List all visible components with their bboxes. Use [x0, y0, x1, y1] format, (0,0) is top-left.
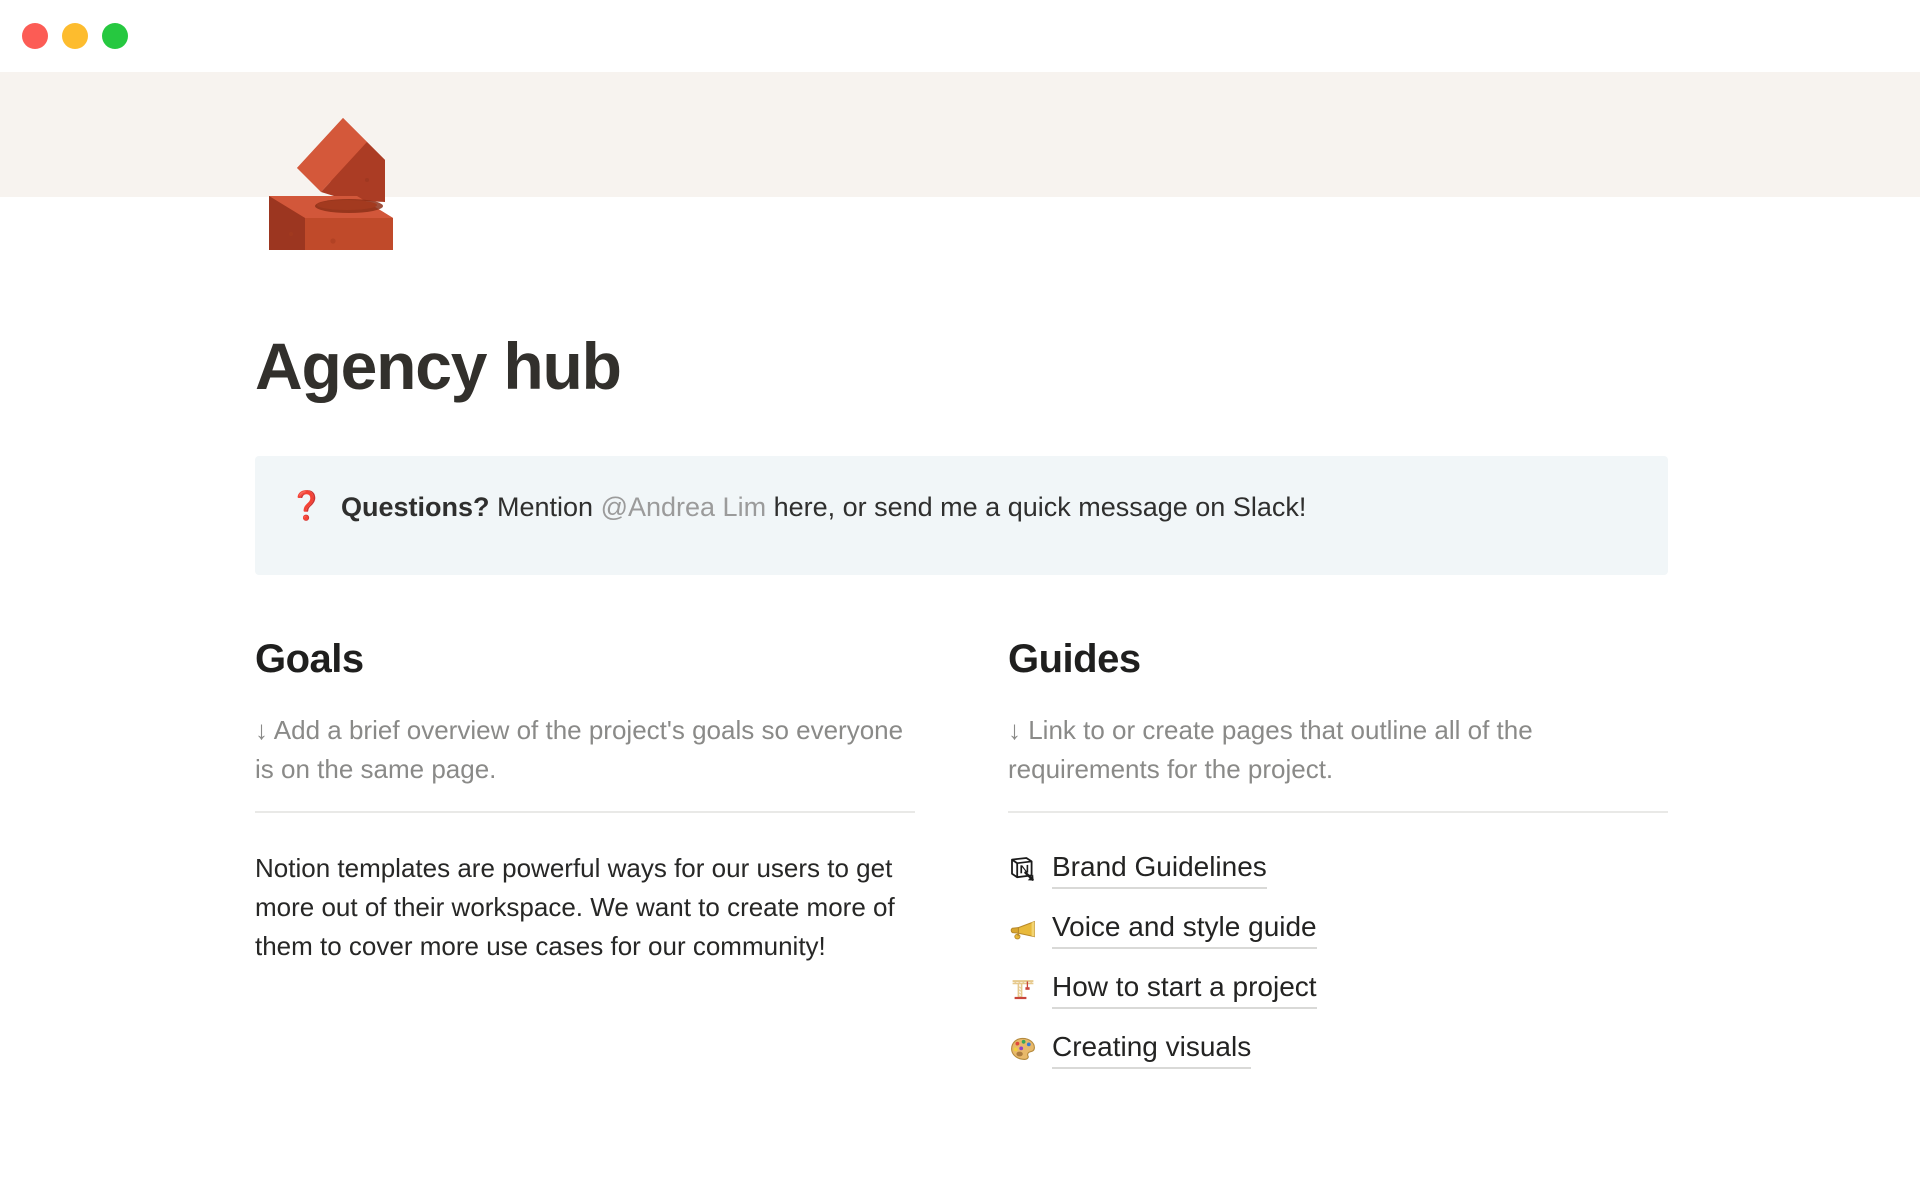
goals-divider: [255, 811, 915, 813]
goals-hint-text: ↓ Add a brief overview of the project's …: [255, 711, 915, 789]
link-label[interactable]: Voice and style guide: [1052, 909, 1317, 949]
notion-page-external-link-icon: [1008, 854, 1038, 884]
questions-callout[interactable]: ❓ Questions? Mention @Andrea Lim here, o…: [255, 456, 1668, 575]
question-mark-icon: ❓: [289, 488, 315, 524]
columns-container: Goals ↓ Add a brief overview of the proj…: [255, 635, 1668, 1089]
guides-column: Guides ↓ Link to or create pages that ou…: [1008, 635, 1668, 1089]
page-title[interactable]: Agency hub: [255, 330, 1668, 404]
guides-heading: Guides: [1008, 635, 1668, 683]
callout-text: Questions? Mention @Andrea Lim here, or …: [341, 488, 1306, 525]
close-window-button[interactable]: [22, 23, 48, 49]
callout-text-after-mention: here, or send me a quick message on Slac…: [766, 492, 1306, 522]
link-label[interactable]: Creating visuals: [1052, 1029, 1251, 1069]
list-item[interactable]: How to start a project: [1008, 969, 1668, 1009]
goals-body-text[interactable]: Notion templates are powerful ways for o…: [255, 849, 915, 966]
guides-divider: [1008, 811, 1668, 813]
guides-link-list: Brand Guidelines Voice and style guide: [1008, 849, 1668, 1069]
link-label[interactable]: Brand Guidelines: [1052, 849, 1267, 889]
guides-hint-text: ↓ Link to or create pages that outline a…: [1008, 711, 1668, 789]
link-label[interactable]: How to start a project: [1052, 969, 1317, 1009]
user-mention[interactable]: @Andrea Lim: [601, 492, 766, 522]
window-titlebar: [0, 0, 1920, 72]
maximize-window-button[interactable]: [102, 23, 128, 49]
bricks-emoji-icon[interactable]: [255, 110, 407, 262]
goals-column: Goals ↓ Add a brief overview of the proj…: [255, 635, 915, 1089]
callout-text-before-mention: Mention: [490, 492, 601, 522]
list-item[interactable]: Voice and style guide: [1008, 909, 1668, 949]
minimize-window-button[interactable]: [62, 23, 88, 49]
goals-heading: Goals: [255, 635, 915, 683]
list-item[interactable]: Brand Guidelines: [1008, 849, 1668, 889]
callout-bold-text: Questions?: [341, 492, 490, 522]
page-content: Agency hub ❓ Questions? Mention @Andrea …: [255, 330, 1668, 1089]
list-item[interactable]: Creating visuals: [1008, 1029, 1668, 1069]
megaphone-emoji-icon: [1008, 914, 1038, 944]
artist-palette-emoji-icon: [1008, 1034, 1038, 1064]
construction-crane-emoji-icon: [1008, 974, 1038, 1004]
